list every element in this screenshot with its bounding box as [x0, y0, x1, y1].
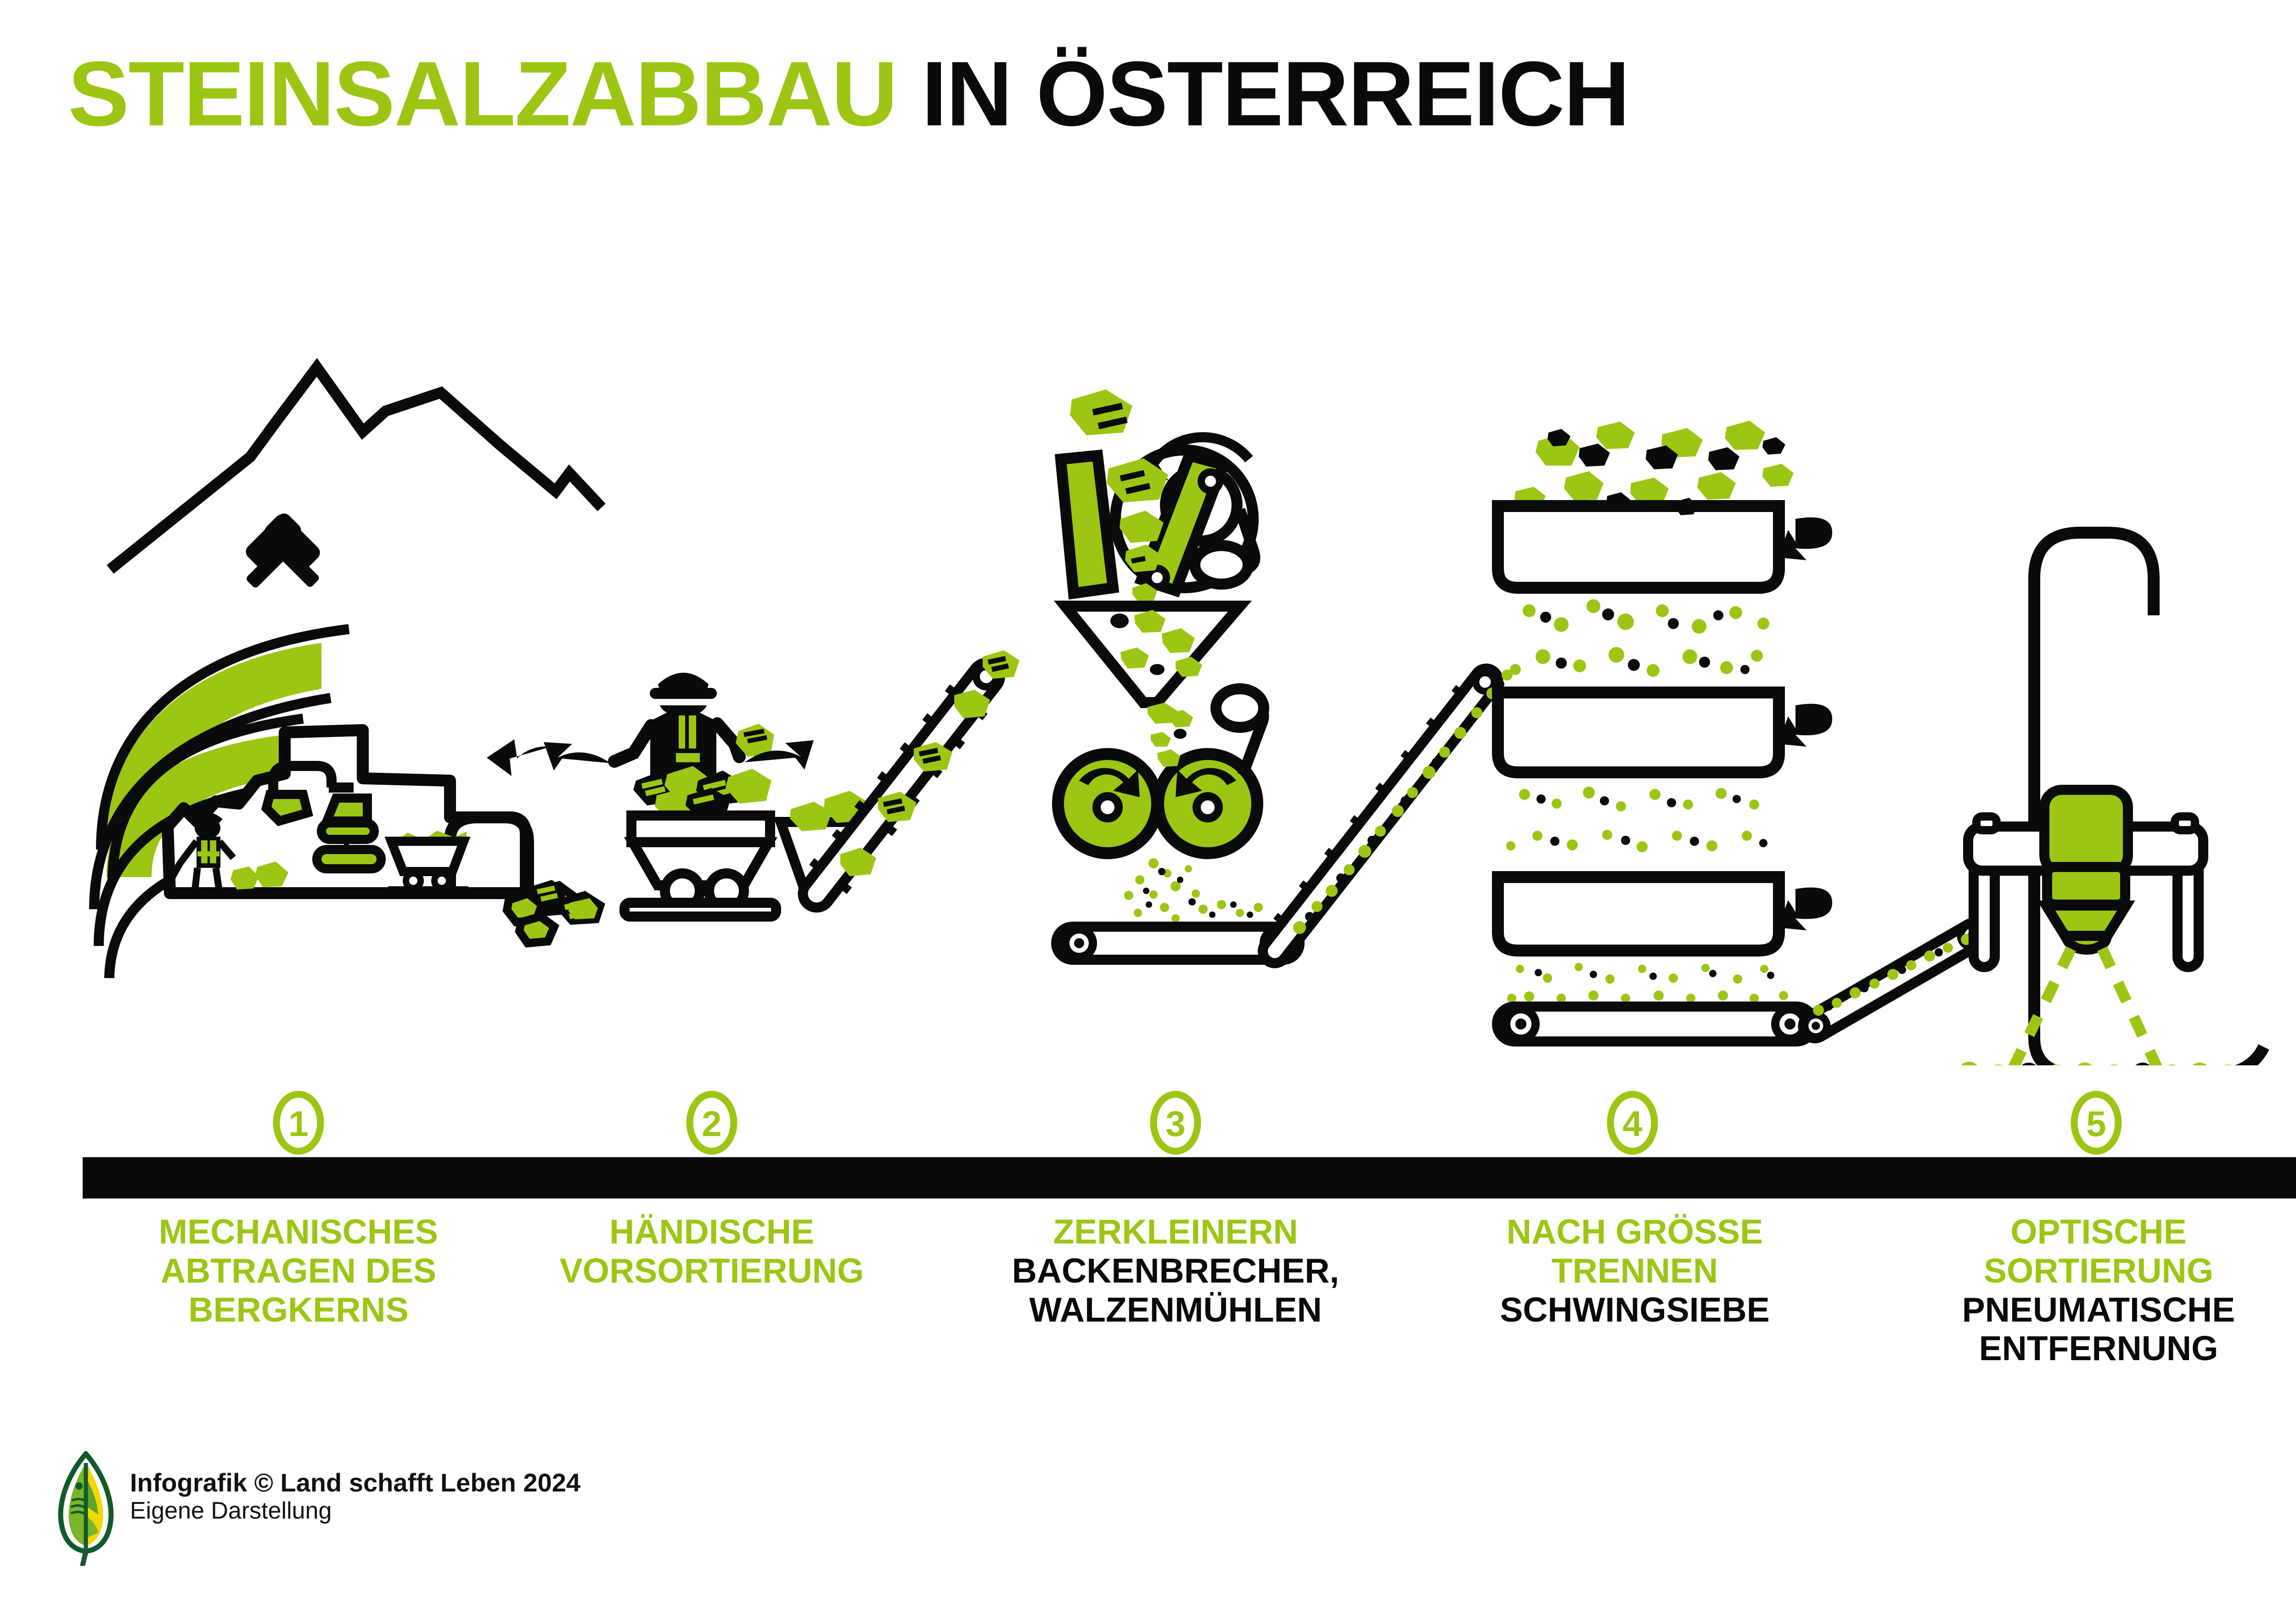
step-badge-number: 1: [288, 1103, 308, 1144]
step-badge-number: 4: [1622, 1103, 1642, 1144]
vibrating-screen-3: [1498, 877, 1832, 951]
scene-1-mine: [94, 367, 602, 978]
step-label-1: MECHANISCHES ABTRAGEN DES BERGKERNS: [69, 1212, 528, 1329]
step-badge-number: 2: [702, 1103, 721, 1144]
step-title-line: MECHANISCHES: [69, 1212, 528, 1251]
step-badge-number: 3: [1165, 1103, 1185, 1144]
roller-mill-left: [1058, 754, 1157, 853]
conveyor-incline-2to3: [789, 650, 1019, 919]
step-subtitle-line: WALZENMÜHLEN: [946, 1290, 1405, 1329]
sorter-frame: [1968, 790, 2203, 967]
step-subtitle-line: SCHWINGSIEBE: [1405, 1290, 1864, 1329]
title-highlight: STEINSALZABBAU: [68, 43, 897, 145]
step-subtitle-line: PNEUMATISCHE: [1864, 1290, 2296, 1329]
step-title-line: HÄNDISCHE: [482, 1212, 941, 1251]
vibrating-screen-1: [1498, 506, 1832, 588]
step-title-line: ZERKLEINERN: [946, 1212, 1405, 1251]
step-label-2: HÄNDISCHE VORSORTIERUNG: [482, 1212, 941, 1290]
step-title-line: TRENNEN: [1405, 1251, 1864, 1290]
footer-source: Eigene Darstellung: [130, 1497, 580, 1524]
scene-5-optical-sorter: [1955, 533, 2296, 1065]
illustration-stage: [0, 294, 2296, 1065]
step-subtitle-line: BACKENBRECHER,: [946, 1251, 1405, 1290]
step-badge-2: 2: [684, 1088, 739, 1157]
step-badge-number: 5: [2086, 1103, 2106, 1144]
conveyor-incline-4to5: [1799, 918, 1990, 1042]
title-rest: IN ÖSTERREICH: [922, 43, 1629, 145]
scene-4-screens: [1497, 421, 1832, 1041]
step-badge-5: 5: [2069, 1088, 2124, 1157]
step-title-line: VORSORTIERUNG: [482, 1251, 941, 1290]
mine-cart-2: [625, 816, 776, 917]
step-label-5: OPTISCHE SORTIERUNG PNEUMATISCHE ENTFERN…: [1864, 1212, 2296, 1368]
step-title-line: OPTISCHE: [1864, 1212, 2296, 1251]
step-badge-1: 1: [271, 1088, 326, 1157]
sorted-particles: [1959, 1062, 2266, 1065]
step-title-line: SORTIERUNG: [1864, 1251, 2296, 1290]
step-label-3: ZERKLEINERN BACKENBRECHER, WALZENMÜHLEN: [946, 1212, 1405, 1329]
scene-3-crusher: [1056, 389, 1300, 960]
step-badge-3: 3: [1148, 1088, 1203, 1157]
conveyor-horizontal-4: [1497, 1007, 1814, 1041]
step-title-line: ABTRAGEN DES: [69, 1251, 528, 1290]
page-title: STEINSALZABBAU IN ÖSTERREICH: [68, 48, 1629, 140]
conveyor-incline-5to6: [2259, 1063, 2296, 1065]
step-label-4: NACH GRÖSSE TRENNEN SCHWINGSIEBE: [1405, 1212, 1864, 1329]
step-subtitle-line: ENTFERNUNG: [1864, 1329, 2296, 1368]
step-badge-4: 4: [1605, 1088, 1660, 1157]
conveyor-incline-3to4: [1251, 658, 1513, 968]
vibrating-screen-2: [1498, 692, 1832, 772]
leaf-logo: [55, 1451, 117, 1566]
mining-hammers-icon: [230, 511, 336, 605]
step-title-line: NACH GRÖSSE: [1405, 1212, 1864, 1251]
step-title-line: BERGKERNS: [69, 1290, 528, 1329]
footer-copyright: Infografik © Land schafft Leben 2024: [130, 1469, 580, 1497]
footer: Infografik © Land schafft Leben 2024 Eig…: [55, 1451, 580, 1566]
